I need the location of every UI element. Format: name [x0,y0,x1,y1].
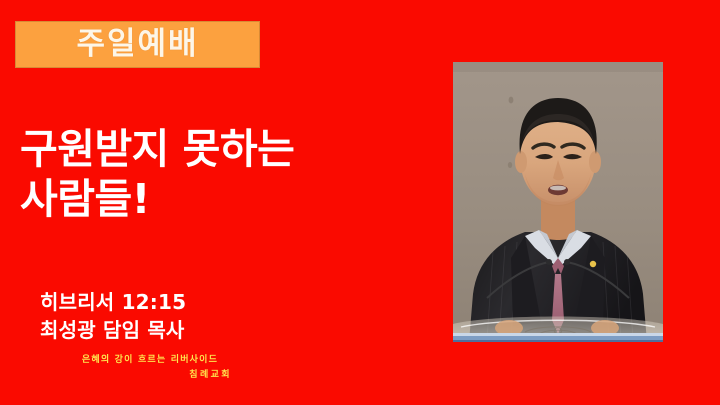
speaker-photo-icon [453,62,663,342]
sermon-title-line-1: 구원받지 못하는 [20,124,420,174]
church-name-line-2: 침례교회 [60,368,240,383]
sermon-slide: 주일예배 구원받지 못하는 사람들! 히브리서 12:15 최성광 담임 목사 … [0,0,720,405]
church-name: 은혜의 강이 흐르는 리버사이드 침례교회 [60,353,240,383]
church-name-line-1: 은혜의 강이 흐르는 리버사이드 [60,353,240,368]
preacher-photo [453,62,663,342]
service-type-banner: 주일예배 [15,21,260,68]
sermon-meta: 히브리서 12:15 최성광 담임 목사 [40,288,380,345]
preacher-name: 최성광 담임 목사 [40,316,380,344]
sermon-title: 구원받지 못하는 사람들! [20,124,420,224]
sermon-title-line-2: 사람들! [20,174,420,224]
scripture-reference: 히브리서 12:15 [40,288,380,316]
service-type-label: 주일예배 [76,29,198,60]
